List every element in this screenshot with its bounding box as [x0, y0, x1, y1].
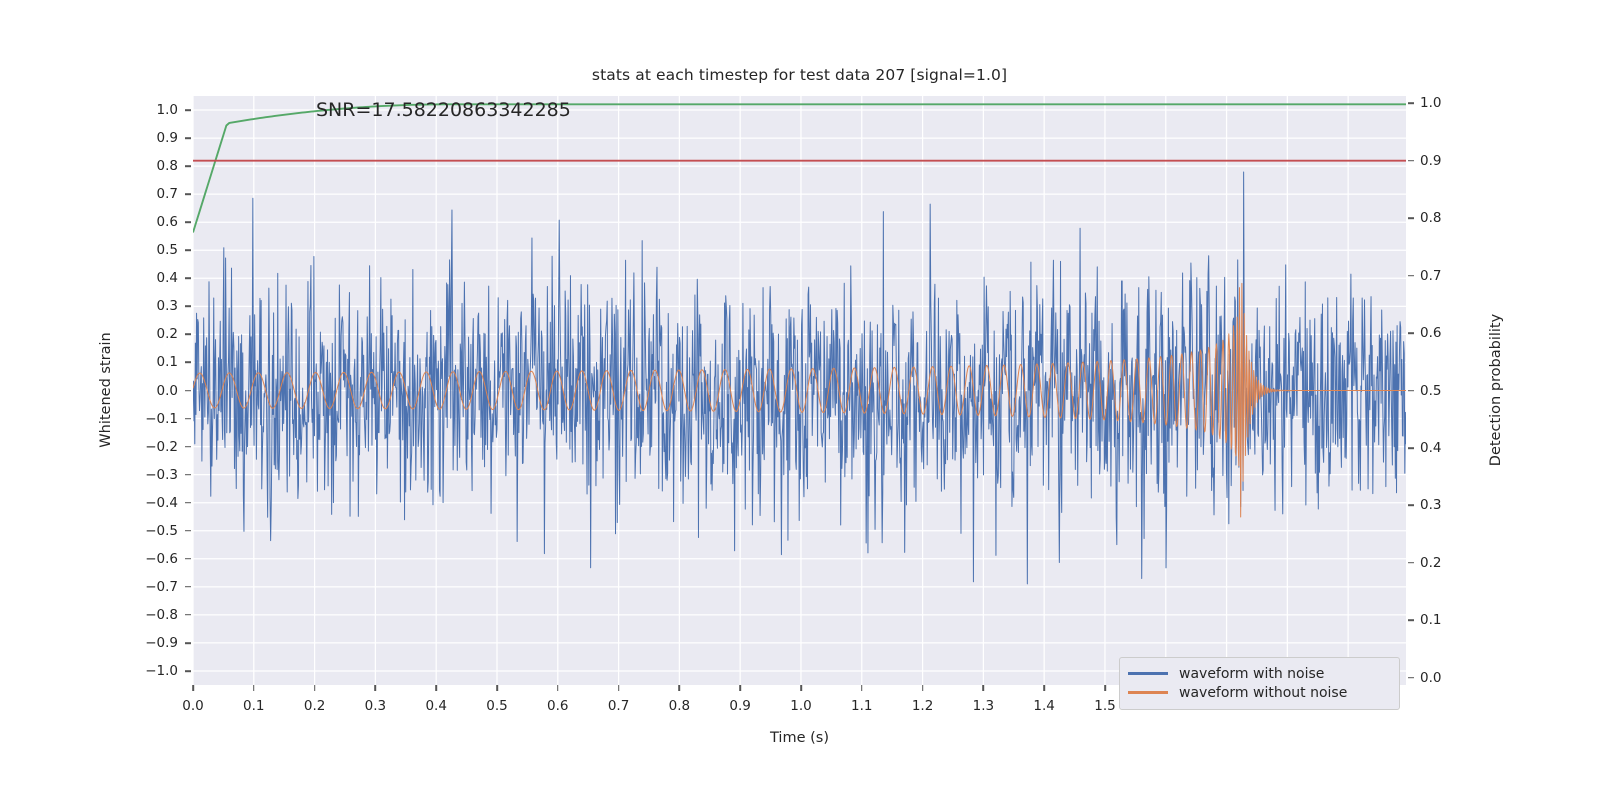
y-axis-right-tick-mark [1408, 562, 1414, 564]
x-axis-tick-label: 1.1 [851, 698, 872, 714]
y-axis-left-tick-mark [185, 109, 191, 111]
y-axis-left-tick-label: 0.9 [120, 130, 178, 146]
y-axis-right-tick-label: 0.3 [1420, 497, 1441, 513]
plot-area [193, 96, 1406, 685]
y-axis-left-tick-mark [185, 418, 191, 420]
y-axis-left-tick-mark [185, 306, 191, 308]
y-axis-left-tick-mark [185, 193, 191, 195]
x-axis-tick-label: 0.1 [243, 698, 264, 714]
y-axis-left-tick-mark [185, 362, 191, 364]
y-axis-left-tick-label: 0.3 [120, 298, 178, 314]
y-axis-right-tick-label: 0.9 [1420, 153, 1441, 169]
y-axis-right-tick-label: 0.7 [1420, 268, 1441, 284]
y-axis-left-tick-mark [185, 670, 191, 672]
y-axis-left-tick-label: −0.7 [120, 579, 178, 595]
x-axis-tick-label: 0.6 [547, 698, 568, 714]
y-axis-left-tick-label: 0.1 [120, 354, 178, 370]
y-axis-left-tick-mark [185, 474, 191, 476]
y-axis-left-tick-mark [185, 614, 191, 616]
y-axis-left-tick-mark [185, 502, 191, 504]
x-axis-tick-label: 1.4 [1033, 698, 1054, 714]
y-axis-left-tick-label: −0.3 [120, 467, 178, 483]
y-axis-left-tick-mark [185, 137, 191, 139]
x-axis-tick-mark [800, 685, 802, 691]
y-axis-left-tick-label: −0.4 [120, 495, 178, 511]
x-axis-tick-label: 0.7 [608, 698, 629, 714]
snr-annotation: SNR=17.58220863342285 [316, 99, 571, 121]
x-axis-tick-mark [435, 685, 437, 691]
x-axis-tick-label: 0.8 [669, 698, 690, 714]
y-axis-left-tick-mark [185, 558, 191, 560]
chart-legend[interactable]: waveform with noisewaveform without nois… [1119, 657, 1400, 710]
y-axis-left-tick-mark [185, 586, 191, 588]
y-axis-right-tick-mark [1408, 332, 1414, 334]
x-axis-title: Time (s) [193, 730, 1406, 746]
x-axis-tick-mark [192, 685, 194, 691]
x-axis-tick-mark [1043, 685, 1045, 691]
y-axis-left-tick-label: 0.0 [120, 383, 178, 399]
y-axis-right-tick-label: 0.6 [1420, 325, 1441, 341]
legend-item[interactable]: waveform without noise [1128, 683, 1391, 702]
x-axis-tick-mark [739, 685, 741, 691]
x-axis-tick-mark [983, 685, 985, 691]
x-axis-tick-mark [861, 685, 863, 691]
y-axis-left-tick-mark [185, 334, 191, 336]
x-axis-tick-label: 0.3 [365, 698, 386, 714]
y-axis-right-title: Detection probability [1488, 314, 1504, 466]
legend-item[interactable]: waveform with noise [1128, 664, 1391, 683]
y-axis-left-tick-mark [185, 249, 191, 251]
y-axis-left-tick-label: 0.2 [120, 326, 178, 342]
y-axis-left-tick-mark [185, 446, 191, 448]
y-axis-right-tick-mark [1408, 447, 1414, 449]
y-axis-left-tick-mark [185, 221, 191, 223]
y-axis-right-tick-mark [1408, 160, 1414, 162]
y-axis-left-title: Whitened strain [98, 332, 114, 447]
y-axis-left-tick-label: −0.9 [120, 635, 178, 651]
legend-label: waveform without noise [1179, 685, 1347, 701]
x-axis-tick-mark [1104, 685, 1106, 691]
x-axis-tick-label: 0.9 [729, 698, 750, 714]
y-axis-left-tick-label: 0.5 [120, 242, 178, 258]
y-axis-left-tick-label: −0.5 [120, 523, 178, 539]
y-axis-right-tick-mark [1408, 102, 1414, 104]
x-axis-tick-label: 1.5 [1094, 698, 1115, 714]
y-axis-right-tick-mark [1408, 620, 1414, 622]
y-axis-left-tick-label: 0.4 [120, 270, 178, 286]
y-axis-left-tick-mark [185, 642, 191, 644]
x-axis-tick-mark [557, 685, 559, 691]
x-axis-tick-label: 1.3 [973, 698, 994, 714]
x-axis-tick-mark [679, 685, 681, 691]
x-axis-tick-mark [375, 685, 377, 691]
y-axis-left-tick-label: −0.1 [120, 411, 178, 427]
legend-color-swatch [1128, 672, 1168, 674]
annotation-layer [193, 96, 1406, 685]
y-axis-right-tick-label: 0.0 [1420, 670, 1441, 686]
y-axis-left-tick-mark [185, 390, 191, 392]
x-axis-tick-label: 1.0 [790, 698, 811, 714]
x-axis-tick-label: 0.0 [182, 698, 203, 714]
y-axis-left-tick-label: −0.6 [120, 551, 178, 567]
y-axis-right-tick-label: 1.0 [1420, 95, 1441, 111]
y-axis-left-tick-mark [185, 278, 191, 280]
x-axis-tick-mark [922, 685, 924, 691]
y-axis-right-tick-mark [1408, 390, 1414, 392]
y-axis-right-tick-mark [1408, 677, 1414, 679]
y-axis-left-tick-label: −1.0 [120, 663, 178, 679]
x-axis-tick-label: 1.2 [912, 698, 933, 714]
legend-label: waveform with noise [1179, 666, 1324, 682]
y-axis-right-tick-label: 0.5 [1420, 383, 1441, 399]
x-axis-tick-mark [496, 685, 498, 691]
y-axis-right-tick-label: 0.4 [1420, 440, 1441, 456]
legend-color-swatch [1128, 691, 1168, 693]
y-axis-left-tick-label: 0.7 [120, 186, 178, 202]
y-axis-left-tick-mark [185, 165, 191, 167]
y-axis-right-tick-mark [1408, 505, 1414, 507]
y-axis-right-tick-label: 0.1 [1420, 612, 1441, 628]
x-axis-tick-mark [314, 685, 316, 691]
y-axis-left-tick-label: −0.8 [120, 607, 178, 623]
y-axis-left-tick-label: 0.8 [120, 158, 178, 174]
y-axis-left-tick-label: −0.2 [120, 439, 178, 455]
y-axis-right-tick-mark [1408, 275, 1414, 277]
x-axis-tick-mark [253, 685, 255, 691]
x-axis-tick-mark [618, 685, 620, 691]
y-axis-left-tick-mark [185, 530, 191, 532]
y-axis-right-tick-mark [1408, 217, 1414, 219]
y-axis-left-tick-label: 1.0 [120, 102, 178, 118]
chart-figure: stats at each timestep for test data 207… [0, 0, 1600, 800]
y-axis-right-tick-label: 0.8 [1420, 210, 1441, 226]
y-axis-right-tick-label: 0.2 [1420, 555, 1441, 571]
chart-title: stats at each timestep for test data 207… [193, 66, 1406, 84]
y-axis-left-tick-label: 0.6 [120, 214, 178, 230]
x-axis-tick-label: 0.4 [425, 698, 446, 714]
x-axis-tick-label: 0.5 [486, 698, 507, 714]
x-axis-tick-label: 0.2 [304, 698, 325, 714]
